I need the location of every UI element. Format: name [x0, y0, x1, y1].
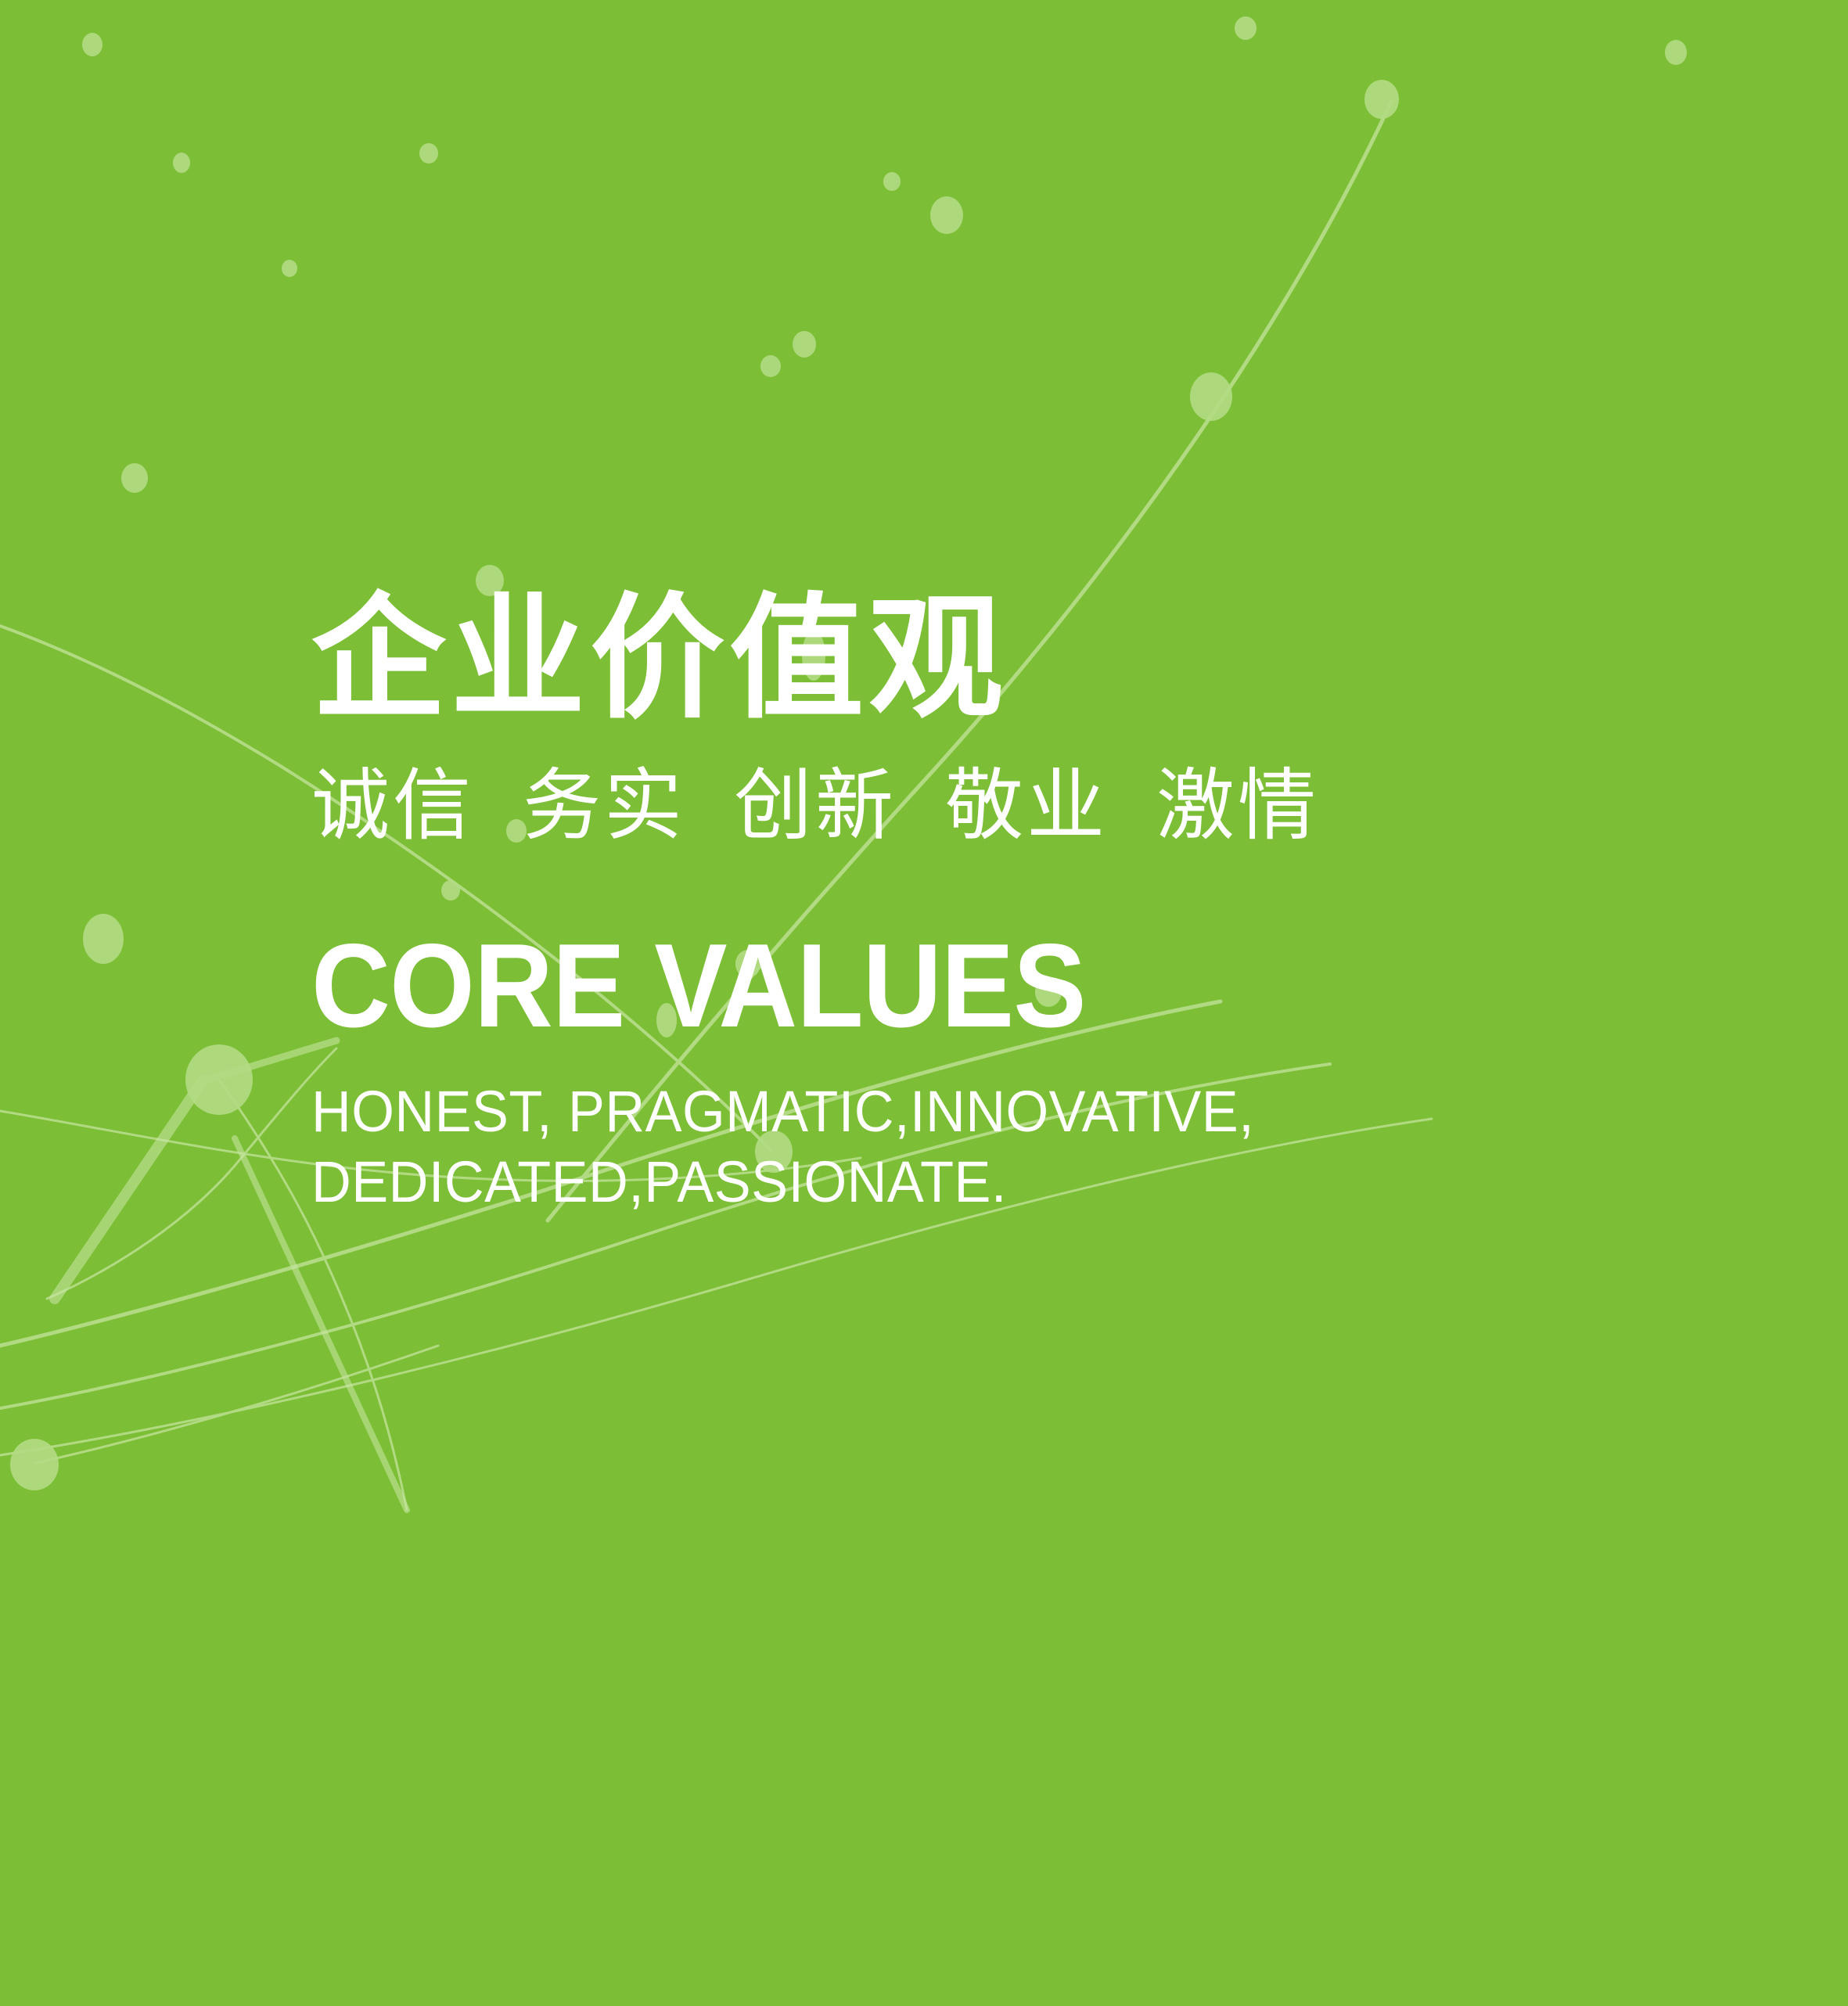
page-title-zh: 企业价值观 — [311, 591, 1720, 726]
value-word-5: 激情 — [1156, 762, 1319, 850]
page-subtitle-zh: 诚信务实创新敬业激情 — [311, 767, 1720, 845]
headline-block: 企业价值观 诚信务实创新敬业激情 CORE VALUES HONEST, PRA… — [311, 591, 1720, 1218]
body-line-2: DEDICATED,PASSIONATE. — [311, 1147, 1649, 1217]
body-line-1: HONEST, PRAGMATIC,INNOVATIVE, — [311, 1077, 1649, 1147]
value-word-1: 诚信 — [311, 762, 474, 850]
page-title-en: CORE VALUES — [311, 926, 1607, 1045]
value-word-2: 务实 — [523, 762, 685, 850]
value-word-3: 创新 — [734, 762, 897, 850]
value-word-4: 敬业 — [945, 762, 1108, 850]
page-body-en: HONEST, PRAGMATIC,INNOVATIVE, DEDICATED,… — [311, 1077, 1649, 1218]
poster-canvas: 企业价值观 诚信务实创新敬业激情 CORE VALUES HONEST, PRA… — [0, 0, 1848, 2006]
